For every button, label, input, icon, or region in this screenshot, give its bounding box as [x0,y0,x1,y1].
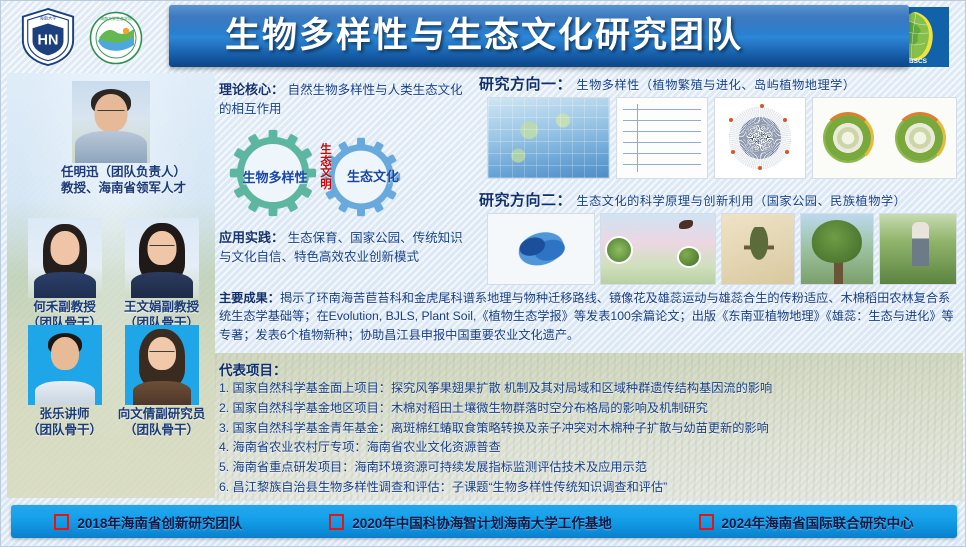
circular-network-figure [714,97,806,179]
project-item: 1. 国家自然科学基金面上项目：探究风筝果翅果扩散 机制及其对局域和区域种群遗传… [219,379,959,399]
mirror-flower-comparison-figure [812,97,958,179]
flower-left-icon [825,115,871,161]
representative-projects-title: 代表项目： [219,359,959,379]
research-direction-2-figures [487,213,957,285]
honor-label-3: 2024年海南省国际联合研究中心 [722,512,914,532]
member-name-text: 任明迅（团队负责人） [61,165,186,179]
team-member-1: 何禾副教授 （团队骨干） [17,218,112,331]
main-results-label: 主要成果： [219,291,280,305]
avatar [125,218,199,298]
research-direction-1-desc: 生物多样性（植物繁殖与进化、岛屿植物地理学） [576,78,855,92]
eco-civilization-vertical-label: 生 态 文 明 [315,145,337,191]
theory-core-heading: 理论核心： 自然生物多样性与人类生态文化的相互作用 [219,81,469,119]
member-role-text: （团队骨干） [114,423,209,439]
honors-footer-bar: 2018年海南省创新研究团队 2020年中国科协海智计划海南大学工作基地 202… [11,505,957,538]
flower-right-icon [897,115,943,161]
member-role-text: 教授、海南省领军人才 [61,181,161,197]
eco-civ-char-1: 生 [315,145,337,157]
application-heading: 应用实践： 生态保育、国家公园、传统知识与文化自信、特色高效农业创新模式 [219,229,474,267]
biodiversity-gear-label: 生物多样性 [231,167,319,186]
avatar [125,325,199,405]
honor-item-2: 2020年中国科协海智计划海南大学工作基地 [329,512,612,532]
project-item: 5. 海南省重点研发项目：海南环境资源可持续发展指标监测评估技术及应用示范 [219,458,959,478]
team-member-name: 张乐讲师 （团队骨干） [17,407,112,438]
team-member-leader: 任明迅（团队负责人） 教授、海南省领军人才 [61,81,161,196]
honor-label-2: 2020年中国科协海智计划海南大学工作基地 [352,512,612,532]
water-resource-distribution-map-figure [487,213,595,285]
pollination-cycle-diagram-figure [600,213,716,285]
research-direction-2-label: 研究方向二： [479,192,572,209]
member-name-text: 王文娟副教授 [124,300,199,314]
research-direction-1-figures [487,97,957,179]
main-results-body: 揭示了环南海苦苣苔科和金虎尾科谱系地理与物种迁移路线、镜像花及雄蕊运动与雄蕊合生… [219,291,954,342]
avatar [72,81,150,163]
main-results-block: 主要成果：揭示了环南海苦苣苔科和金虎尾科谱系地理与物种迁移路线、镜像花及雄蕊运动… [219,289,959,344]
team-member-4: 向文倩副研究员 （团队骨干） [114,325,209,438]
theory-core-block: 理论核心： 自然生物多样性与人类生态文化的相互作用 [219,81,469,119]
team-member-name: 向文倩副研究员 （团队骨干） [114,407,209,438]
application-label: 应用实践： [219,230,284,245]
member-name-text: 张乐讲师 [39,407,89,421]
ancient-painting-figure [721,213,795,285]
research-direction-1-label: 研究方向一： [479,76,572,93]
field-survey-photo-figure [879,213,957,285]
poster-header: HN 海南大学 海南大学生态学院 TBSCS 生物多样性与生态文化研究团队 [1,1,966,71]
application-practice-block: 应用实践： 生态保育、国家公园、传统知识与文化自信、特色高效农业创新模式 [219,229,474,267]
team-member-3: 张乐讲师 （团队骨干） [17,325,112,438]
square-bullet-icon [54,514,69,530]
team-members-panel: 任明迅（团队负责人） 教授、海南省领军人才 何禾副教授 （团队骨干） [7,73,215,498]
project-item: 2. 国家自然科学基金地区项目：木棉对稻田土壤微生物群落时空分布格局的影响及机制… [219,399,959,419]
square-bullet-icon [699,514,714,530]
honor-item-3: 2024年海南省国际联合研究中心 [699,512,914,532]
eco-civ-char-3: 文 [315,168,337,180]
member-role-text: （团队骨干） [17,423,112,439]
honor-item-1: 2018年海南省创新研究团队 [54,512,242,532]
poster-root: HN 海南大学 海南大学生态学院 TBSCS 生物多样性与生态文化研究团队 [0,0,966,547]
member-name-text: 何禾副教授 [33,300,96,314]
representative-projects-block: 代表项目： 1. 国家自然科学基金面上项目：探究风筝果翅果扩散 机制及其对局域和… [219,359,959,498]
project-item: 6. 昌江黎族自治县生物多样性调查和评估：子课题“生物多样性传统知识调查和评估” [219,478,959,498]
avatar [28,218,102,298]
biodiversity-ecoculture-gear-diagram: 生物多样性 [229,129,454,219]
phylogenetic-tree-figure [616,97,708,179]
research-direction-1-heading: 研究方向一： 生物多样性（植物繁殖与进化、岛屿植物地理学） [479,73,856,94]
team-member-name: 任明迅（团队负责人） 教授、海南省领军人才 [61,165,161,196]
project-item: 4. 海南省农业农村厅专项：海南省农业文化资源普查 [219,438,959,458]
main-results-text: 主要成果：揭示了环南海苦苣苔科和金虎尾科谱系地理与物种迁移路线、镜像花及雄蕊运动… [219,289,959,344]
ecoculture-gear-label: 生态文化 [333,166,413,185]
avatar [28,325,102,405]
member-name-text: 向文倩副研究员 [118,407,206,421]
eco-civ-char-4: 明 [315,180,337,192]
theory-core-label: 理论核心： [219,82,284,97]
honor-label-1: 2018年海南省创新研究团队 [77,512,242,532]
project-item: 3. 国家自然科学基金青年基金：离斑棉红蝽取食策略转换及亲子冲突对木棉种子扩散与… [219,419,959,439]
page-title: 生物多样性与生态文化研究团队 [1,1,966,63]
research-direction-2-heading: 研究方向二： 生态文化的科学原理与创新利用（国家公园、民族植物学） [479,189,906,210]
old-tree-photo-figure [800,213,874,285]
square-bullet-icon [329,514,344,530]
research-direction-2-desc: 生态文化的科学原理与创新利用（国家公园、民族植物学） [576,194,906,208]
south-china-sea-map-figure [487,97,610,179]
team-member-2: 王文娟副教授 （团队骨干） [114,218,209,331]
